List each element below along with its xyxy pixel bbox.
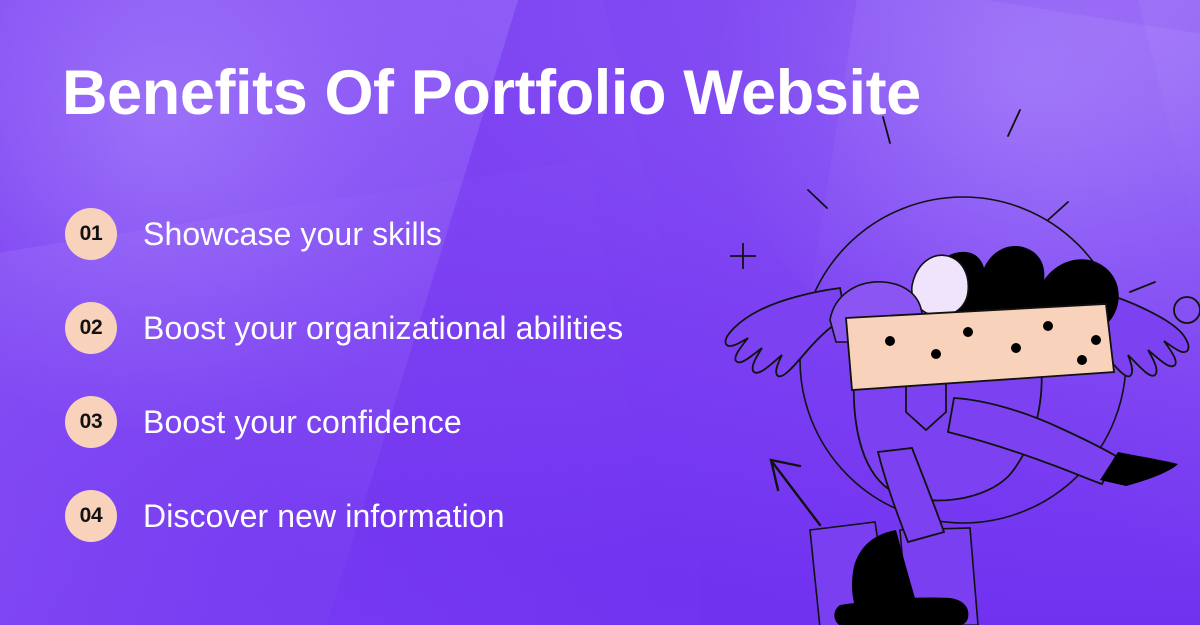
benefit-number-badge: 03 [65, 396, 117, 448]
list-item: 03 Boost your confidence [65, 396, 785, 448]
left-arm [725, 288, 846, 376]
peach-banner [846, 304, 1114, 390]
list-item: 01 Showcase your skills [65, 208, 785, 260]
person-with-banner-illustration [700, 60, 1200, 625]
list-item: 02 Boost your organizational abilities [65, 302, 785, 354]
benefit-list: 01 Showcase your skills 02 Boost your or… [65, 208, 785, 584]
benefit-label: Discover new information [143, 498, 505, 535]
list-item: 04 Discover new information [65, 490, 785, 542]
benefit-label: Boost your organizational abilities [143, 310, 623, 347]
benefit-label: Boost your confidence [143, 404, 462, 441]
up-left-arrow-icon [771, 460, 820, 525]
benefit-label: Showcase your skills [143, 216, 442, 253]
poster-canvas: Benefits Of Portfolio Website 01 Showcas… [0, 0, 1200, 625]
benefit-number-badge: 04 [65, 490, 117, 542]
small-circle-outline-icon [1174, 297, 1200, 323]
plus-spark-icon [730, 243, 756, 269]
benefit-number-badge: 01 [65, 208, 117, 260]
benefit-number-badge: 02 [65, 302, 117, 354]
content-layer: Benefits Of Portfolio Website 01 Showcas… [0, 0, 1200, 625]
